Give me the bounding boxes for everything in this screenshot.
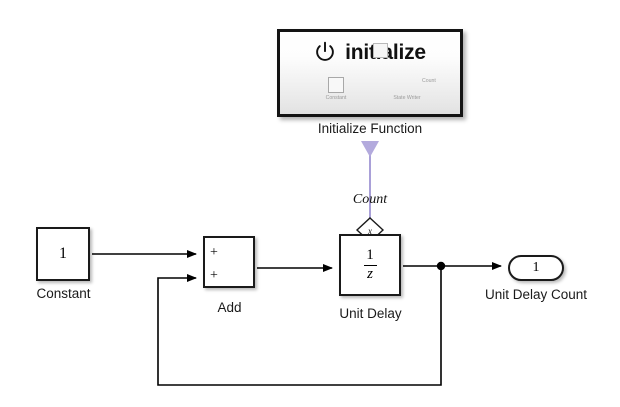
- add-block[interactable]: + +: [203, 236, 255, 288]
- initialize-ghost-square-icon: [373, 43, 388, 58]
- unit-delay-block[interactable]: 1 z: [339, 234, 401, 296]
- init-inner-signal-label: Count: [422, 78, 436, 84]
- unit-delay-transfer-function: 1 z: [364, 248, 377, 283]
- add-block-label: Add: [166, 301, 293, 315]
- simulink-canvas: x initialize Constant State Writer Count…: [0, 0, 620, 407]
- outport-block[interactable]: 1: [508, 255, 564, 281]
- unit-delay-block-label: Unit Delay: [307, 307, 434, 321]
- init-inner-constant-label: Constant: [306, 95, 366, 101]
- initialize-function-block[interactable]: initialize Constant State Writer Count: [277, 29, 463, 117]
- constant-block[interactable]: 1: [36, 227, 90, 281]
- init-inner-state-writer-label: State Writer: [377, 95, 437, 101]
- power-icon: [314, 41, 336, 63]
- initialize-function-label: Initialize Function: [282, 121, 458, 136]
- unit-delay-numerator: 1: [364, 248, 377, 264]
- init-inner-constant-block: [328, 77, 344, 93]
- signal-branch-junction: [437, 262, 445, 270]
- unit-delay-denominator: z: [364, 267, 377, 283]
- outport-value: 1: [533, 260, 540, 276]
- event-arrowhead-icon: [361, 141, 379, 157]
- outport-block-label: Unit Delay Count: [452, 288, 620, 302]
- add-input1-sign: +: [210, 246, 218, 260]
- count-signal-label: Count: [330, 192, 410, 208]
- constant-block-label: Constant: [0, 287, 127, 301]
- initialize-title-row: initialize: [280, 41, 460, 63]
- add-input2-sign: +: [210, 269, 218, 283]
- constant-value: 1: [59, 245, 67, 263]
